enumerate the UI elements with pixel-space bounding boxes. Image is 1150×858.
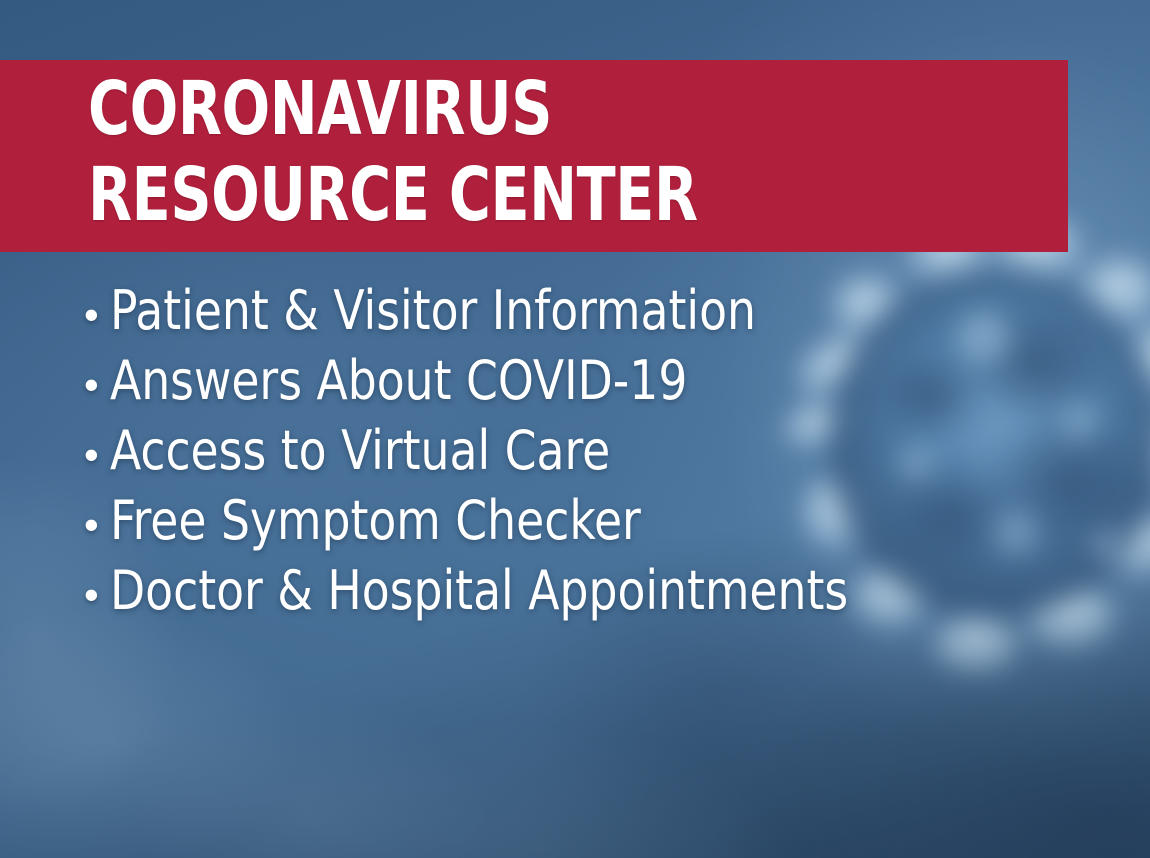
list-item: • Doctor & Hospital Appointments: [84, 562, 895, 632]
list-item: • Free Symptom Checker: [84, 492, 895, 562]
list-item-label: Patient & Visitor Information: [110, 282, 756, 340]
headline-line-2: RESOURCE CENTER: [88, 152, 931, 238]
headline-banner: CORONAVIRUS RESOURCE CENTER: [0, 60, 1068, 252]
bullet-point-icon: •: [84, 286, 110, 344]
bullet-point-icon: •: [84, 426, 110, 484]
bullet-point-icon: •: [84, 356, 110, 414]
bullet-point-icon: •: [84, 496, 110, 554]
list-item-label: Access to Virtual Care: [110, 422, 610, 480]
list-item-label: Answers About COVID-19: [110, 352, 687, 410]
headline-line-1: CORONAVIRUS: [88, 66, 931, 152]
bullet-point-icon: •: [84, 566, 110, 624]
list-item: • Access to Virtual Care: [84, 422, 895, 492]
list-item: • Patient & Visitor Information: [84, 282, 895, 352]
list-item-label: Doctor & Hospital Appointments: [110, 562, 848, 620]
feature-list: • Patient & Visitor Information • Answer…: [84, 282, 895, 632]
coronavirus-resource-center-graphic: CORONAVIRUS RESOURCE CENTER • Patient & …: [0, 0, 1150, 858]
list-item: • Answers About COVID-19: [84, 352, 895, 422]
list-item-label: Free Symptom Checker: [110, 492, 641, 550]
